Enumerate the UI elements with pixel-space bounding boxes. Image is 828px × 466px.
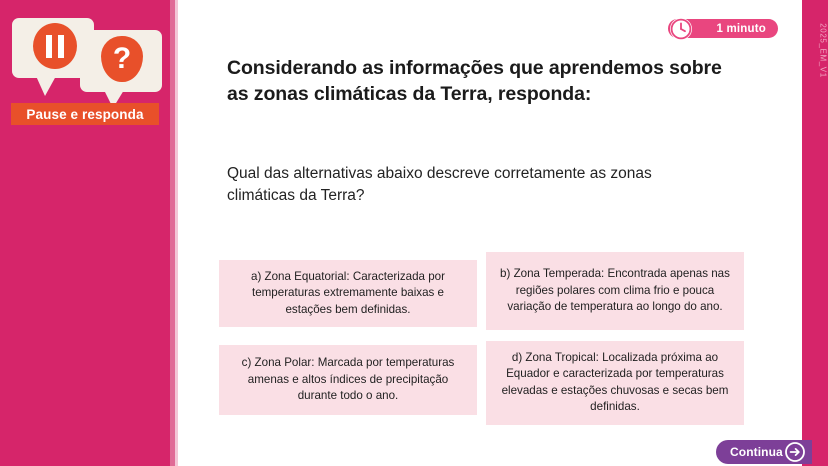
question-text: Qual das alternativas abaixo descreve co… — [227, 163, 722, 207]
continue-button-label: Continua — [730, 445, 783, 459]
clock-icon — [669, 17, 693, 41]
answer-option-b[interactable]: b) Zona Temperada: Encontrada apenas nas… — [486, 252, 744, 330]
answer-option-d[interactable]: d) Zona Tropical: Localizada próxima ao … — [486, 341, 744, 425]
pause-respond-label: Pause e responda — [11, 103, 159, 125]
answer-option-c[interactable]: c) Zona Polar: Marcada por temperaturas … — [219, 345, 477, 415]
speech-bubble-left-tail — [36, 76, 56, 96]
slide-root: ? Pause e responda 2025_EM_V1 1 minuto C… — [0, 0, 828, 466]
pause-icon — [33, 23, 77, 69]
answer-options: a) Zona Equatorial: Caracterizada por te… — [219, 252, 744, 425]
question-mark-glyph: ? — [113, 44, 131, 74]
timer-label: 1 minuto — [716, 23, 766, 35]
page-title: Considerando as informações que aprendem… — [227, 56, 727, 107]
answer-option-a[interactable]: a) Zona Equatorial: Caracterizada por te… — [219, 260, 477, 327]
arrow-right-circle-icon[interactable] — [783, 440, 807, 464]
pause-icon-bars — [46, 35, 64, 58]
right-edge-strip: 2025_EM_V1 — [802, 0, 828, 466]
version-code: 2025_EM_V1 — [818, 23, 827, 77]
